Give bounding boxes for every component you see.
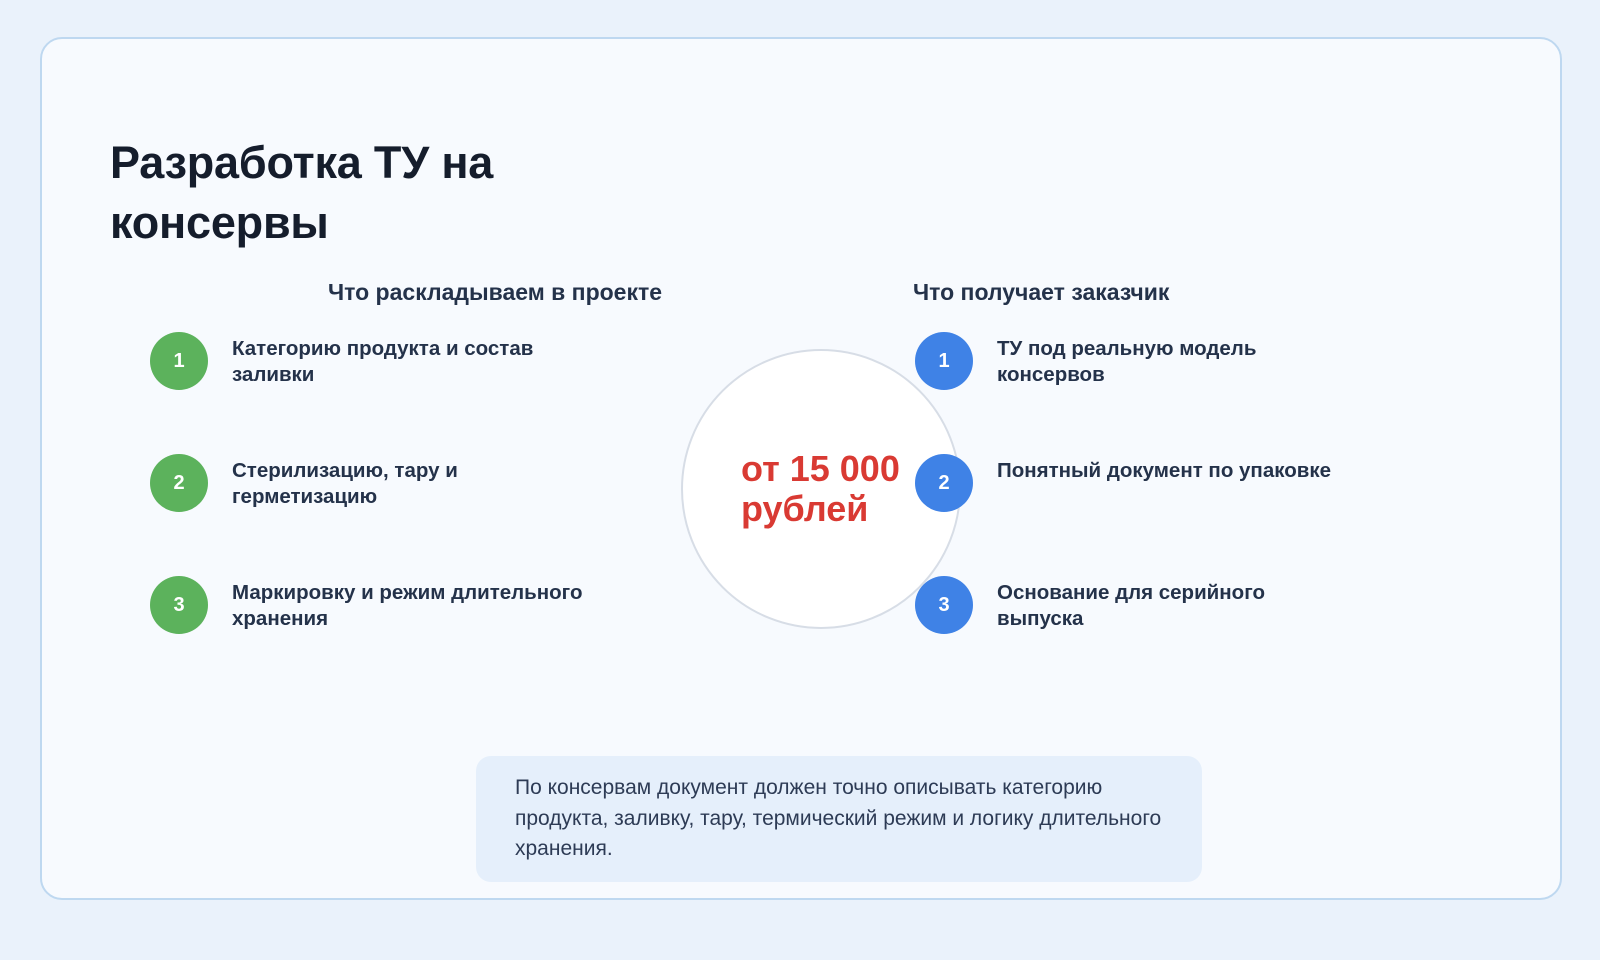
list-item-label: Понятный документ по упаковке: [997, 451, 1337, 484]
price-badge-label: от 15 000 рублей: [741, 449, 901, 528]
list-item: 2 Стерилизацию, тару и герметизацию: [150, 451, 620, 512]
list-item: 1 Категорию продукта и состав заливки: [150, 329, 620, 390]
bullet-number-badge: 3: [150, 576, 208, 634]
list-item-label: Категорию продукта и состав заливки: [232, 329, 602, 388]
page-title: Разработка ТУ на консервы: [110, 133, 670, 252]
list-item-label: Основание для серийного выпуска: [997, 573, 1337, 632]
bullet-number-badge: 2: [150, 454, 208, 512]
list-item-label: Маркировку и режим длительного хранения: [232, 573, 602, 632]
list-item: 3 Основание для серийного выпуска: [915, 573, 1385, 634]
note-callout: По консервам документ должен точно описы…: [476, 756, 1202, 882]
bullet-number-badge: 3: [915, 576, 973, 634]
list-item: 1 ТУ под реальную модель консервов: [915, 329, 1385, 390]
list-item: 2 Понятный документ по упаковке: [915, 451, 1385, 512]
bullet-number-badge: 1: [915, 332, 973, 390]
left-column-header: Что раскладываем в проекте: [328, 279, 662, 306]
right-column-header: Что получает заказчик: [913, 279, 1169, 306]
bullet-number-badge: 1: [150, 332, 208, 390]
list-item-label: ТУ под реальную модель консервов: [997, 329, 1337, 388]
note-callout-text: По консервам документ должен точно описы…: [476, 773, 1202, 866]
bullet-number-badge: 2: [915, 454, 973, 512]
list-item-label: Стерилизацию, тару и герметизацию: [232, 451, 602, 510]
infographic-card: Разработка ТУ на консервы Что раскладыва…: [40, 37, 1562, 900]
list-item: 3 Маркировку и режим длительного хранени…: [150, 573, 620, 634]
